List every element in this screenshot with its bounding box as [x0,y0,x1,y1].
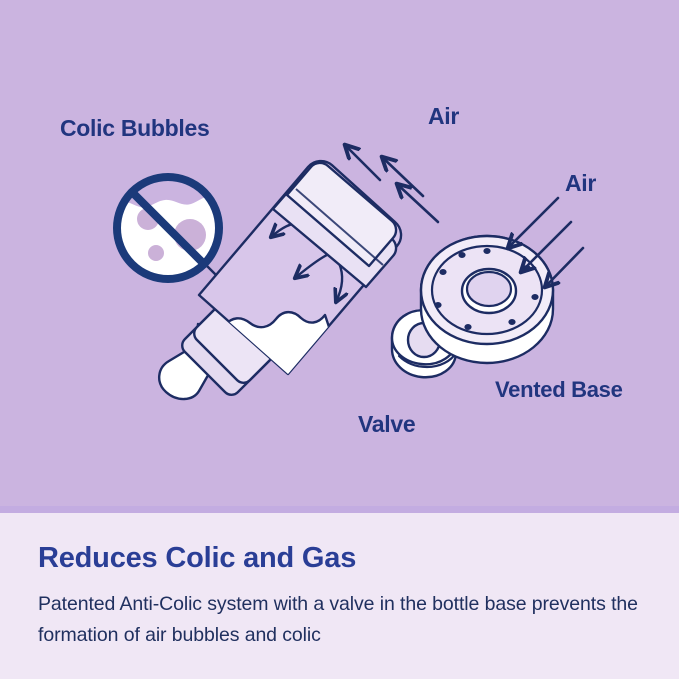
label-vented-base: Vented Base [495,377,623,402]
caption-title: Reduces Colic and Gas [38,542,356,575]
label-valve: Valve [358,411,415,437]
anti-colic-diagram: Colic Bubbles Air Air Valve Vented Base [0,0,679,513]
label-colic-bubbles: Colic Bubbles [60,115,209,141]
illustration-panel: Colic Bubbles Air Air Valve Vented Base [0,0,679,513]
caption-panel: Reduces Colic and Gas Patented Anti-Coli… [0,513,679,679]
label-air-right: Air [565,170,596,196]
caption-body: Patented Anti-Colic system with a valve … [38,589,648,651]
vented-base-disc-icon [421,236,553,363]
product-feature-card: Colic Bubbles Air Air Valve Vented Base … [0,0,679,679]
panel-divider [0,506,679,513]
no-colic-bubbles-icon [117,177,219,279]
label-air-top: Air [428,103,459,129]
